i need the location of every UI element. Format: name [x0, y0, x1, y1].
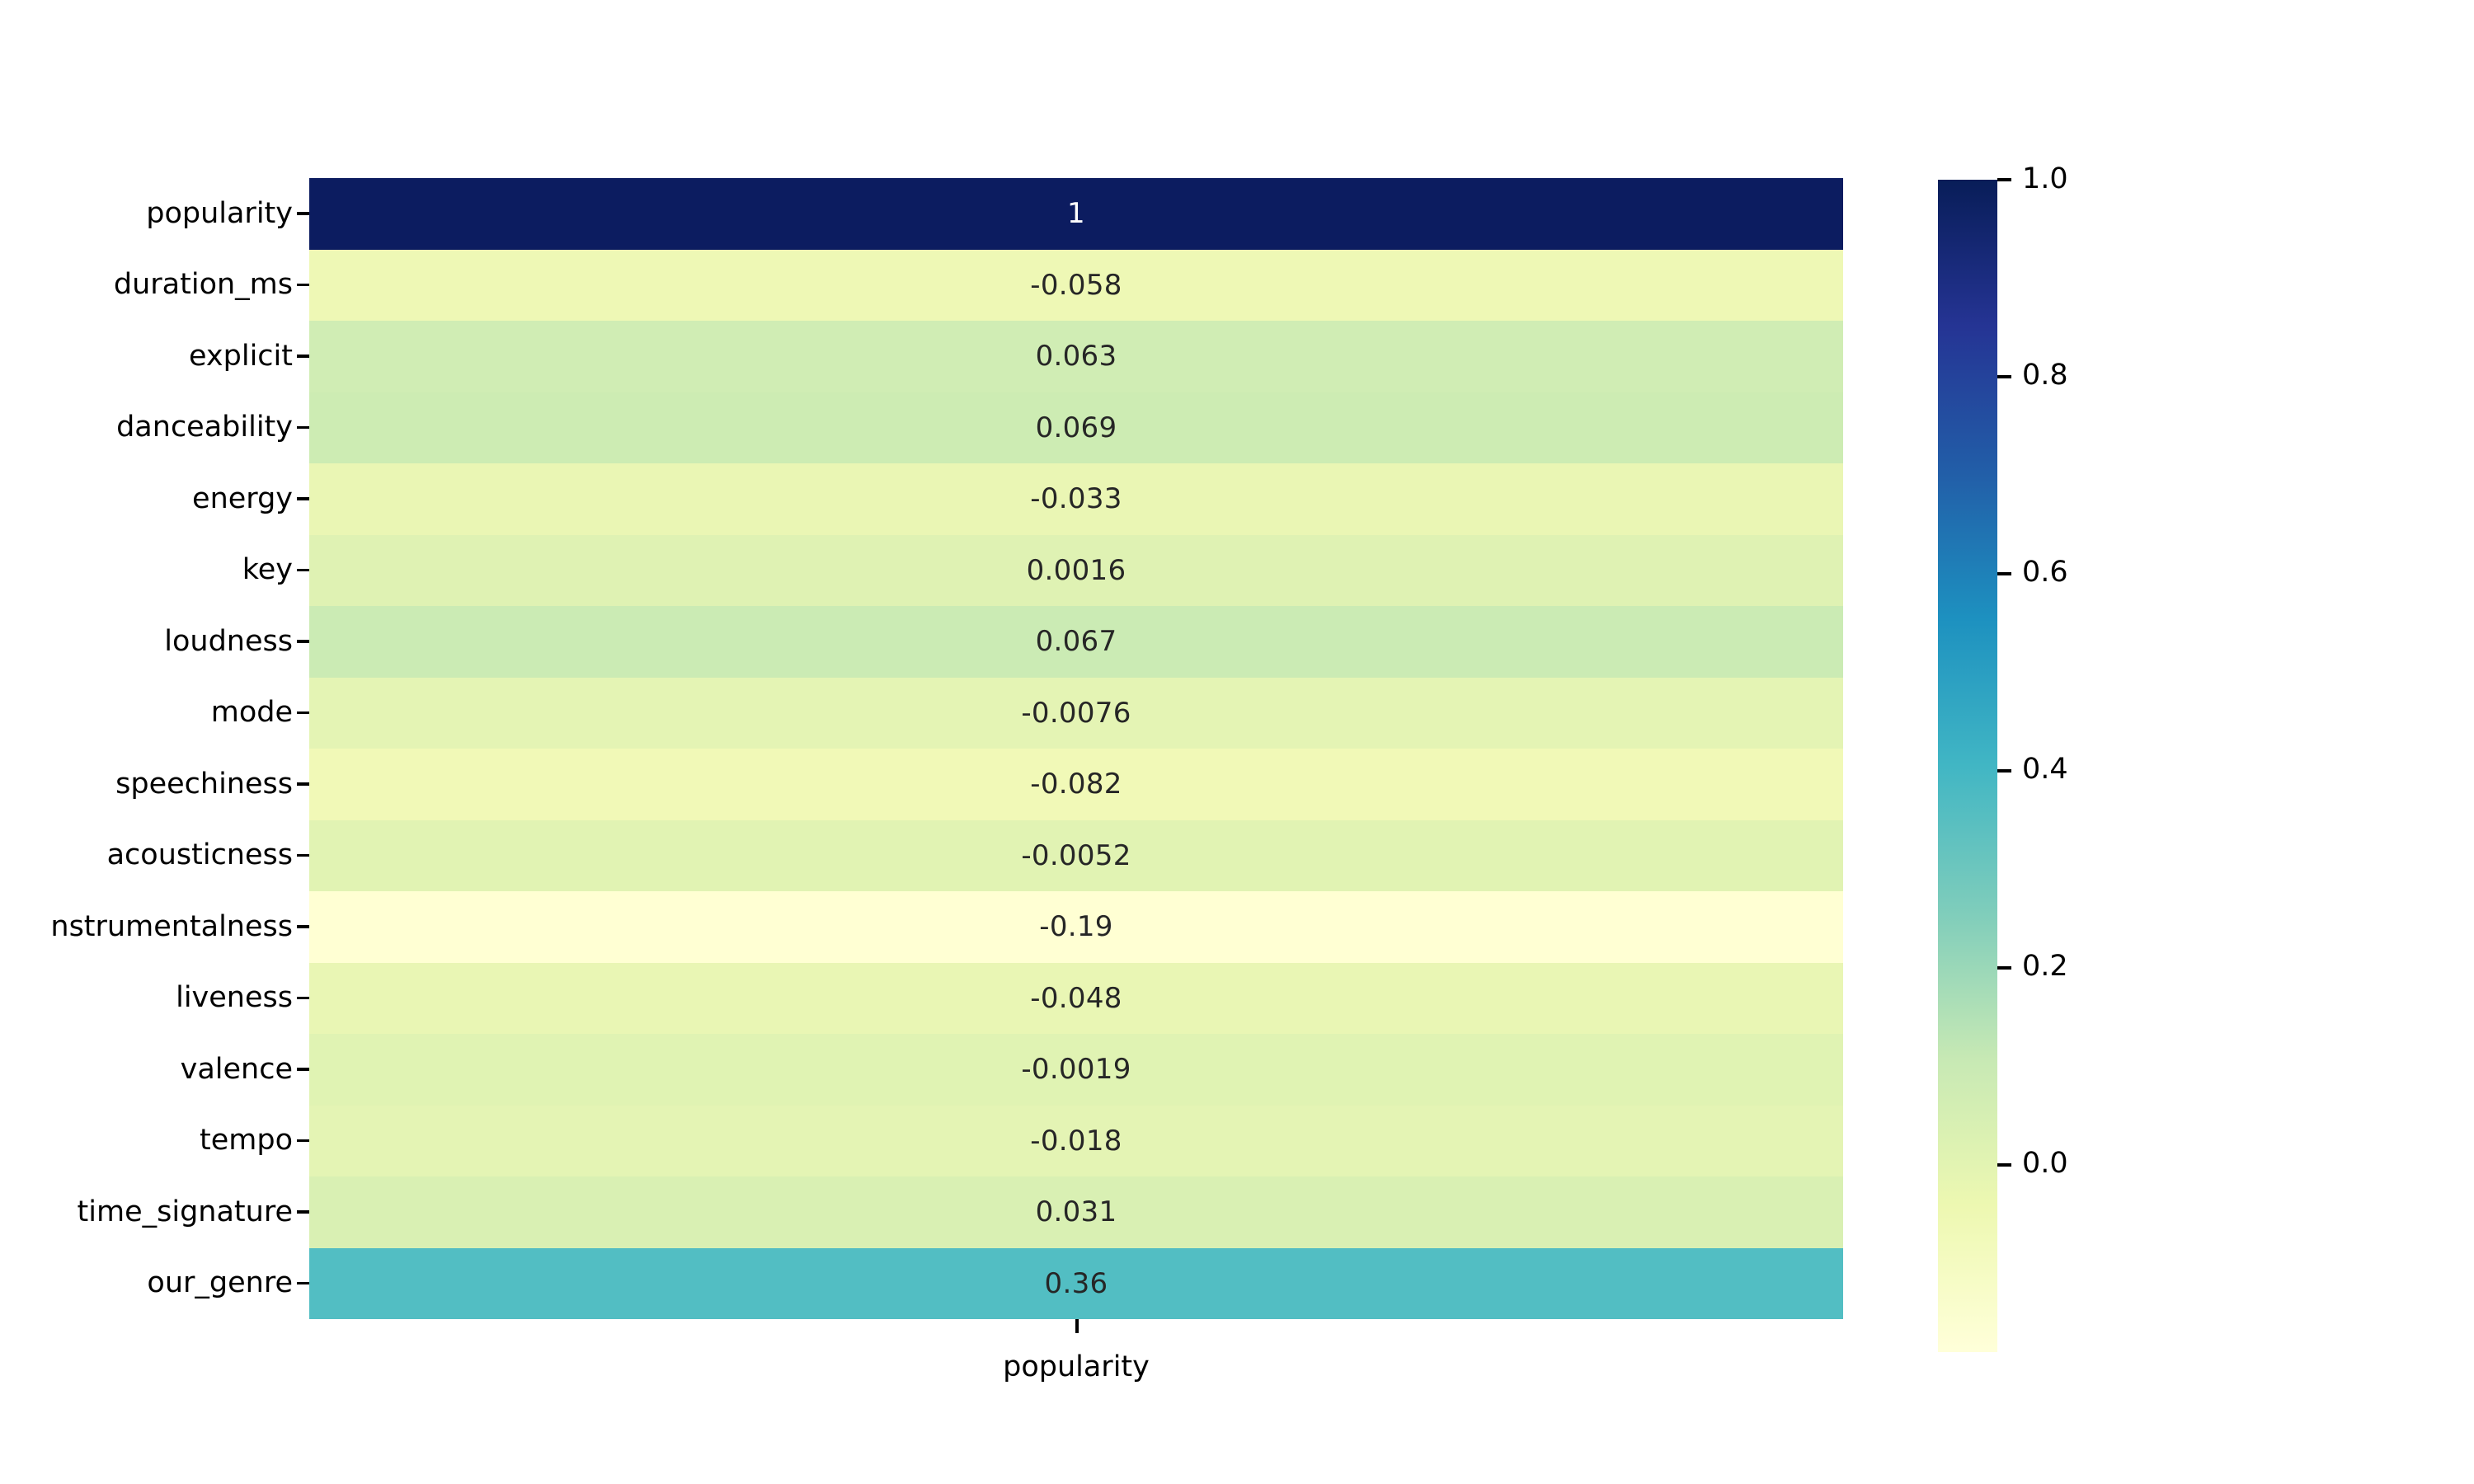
- y-axis-tick-label: duration_ms: [114, 270, 293, 299]
- colorbar-tick-label: 0.0: [2022, 1149, 2068, 1178]
- y-axis-tick: energy: [0, 463, 293, 535]
- y-axis-tick-label: tempo: [200, 1126, 293, 1155]
- heatmap-cell-value: -0.0076: [1021, 699, 1131, 727]
- y-axis-tick: explicit: [0, 321, 293, 392]
- heatmap-cell: 1: [309, 178, 1843, 250]
- heatmap-axes: 1-0.0580.0630.069-0.0330.00160.067-0.007…: [309, 178, 1843, 1319]
- heatmap-cell: -0.033: [309, 463, 1843, 535]
- heatmap-cell: 0.36: [309, 1248, 1843, 1320]
- y-axis-tick-label: liveness: [176, 984, 293, 1012]
- heatmap-cell-value: 0.36: [1045, 1270, 1108, 1298]
- y-axis-tick-label: popularity: [146, 200, 293, 228]
- y-axis-tick: speechiness: [0, 749, 293, 820]
- y-axis-tick-label: key: [242, 556, 293, 585]
- heatmap-cell-value: 0.0016: [1027, 556, 1126, 585]
- y-axis-tick: mode: [0, 678, 293, 749]
- heatmap-cell-value: -0.033: [1030, 485, 1122, 513]
- heatmap-cell: -0.058: [309, 250, 1843, 322]
- y-axis-tick: popularity: [0, 178, 293, 250]
- heatmap-cell: 0.031: [309, 1176, 1843, 1248]
- y-axis-tick: key: [0, 535, 293, 607]
- y-axis-tick: acousticness: [0, 820, 293, 892]
- y-axis-tick-label: mode: [211, 698, 293, 727]
- colorbar-tick-label: 0.4: [2022, 755, 2068, 784]
- colorbar-tick-mark: [1997, 966, 2011, 970]
- heatmap-cell: 0.067: [309, 606, 1843, 678]
- heatmap-cell: 0.069: [309, 392, 1843, 464]
- heatmap-cell: -0.0052: [309, 820, 1843, 892]
- colorbar-tick-label: 0.6: [2022, 558, 2068, 587]
- y-axis-tick-label: speechiness: [115, 770, 293, 799]
- colorbar-tick-mark: [1997, 769, 2011, 773]
- correlation-heatmap-figure: popularityduration_msexplicitdanceabilit…: [0, 0, 2474, 1484]
- y-axis-tick-label: loudness: [164, 627, 293, 656]
- y-axis-tick: tempo: [0, 1106, 293, 1177]
- heatmap-cell-value: -0.082: [1030, 770, 1122, 798]
- heatmap-cell-value: 1: [1067, 200, 1085, 228]
- colorbar-tick-label: 0.2: [2022, 952, 2068, 981]
- y-axis-tick: danceability: [0, 392, 293, 464]
- heatmap-cell: -0.018: [309, 1106, 1843, 1177]
- heatmap-cell-value: 0.069: [1036, 414, 1117, 442]
- colorbar-gradient: [1938, 180, 1997, 1352]
- colorbar-tick-mark: [1997, 572, 2011, 575]
- y-axis-tick: our_genre: [0, 1248, 293, 1320]
- y-axis-tick: time_signature: [0, 1176, 293, 1248]
- heatmap-cell: -0.082: [309, 749, 1843, 820]
- colorbar-tick-label: 0.8: [2022, 361, 2068, 390]
- x-axis-tick-label: popularity: [309, 1350, 1843, 1383]
- x-axis-tick-mark: [1075, 1319, 1079, 1333]
- heatmap-cell-value: -0.19: [1039, 913, 1112, 941]
- colorbar-tick-mark: [1997, 375, 2011, 378]
- y-axis-tick-labels: popularityduration_msexplicitdanceabilit…: [0, 178, 293, 1319]
- y-axis-tick-label: energy: [192, 485, 293, 514]
- y-axis-tick: loudness: [0, 606, 293, 678]
- y-axis-tick: duration_ms: [0, 250, 293, 322]
- heatmap-cell-value: -0.0019: [1021, 1055, 1131, 1083]
- heatmap-cell: -0.048: [309, 963, 1843, 1035]
- colorbar-tick-mark: [1997, 178, 2011, 181]
- y-axis-tick: liveness: [0, 963, 293, 1035]
- y-axis-tick-label: explicit: [189, 342, 293, 371]
- y-axis-tick: nstrumentalness: [0, 891, 293, 963]
- heatmap-cell-value: 0.063: [1036, 342, 1117, 370]
- heatmap-cell-value: -0.048: [1030, 984, 1122, 1012]
- y-axis-tick-label: danceability: [116, 413, 293, 442]
- colorbar: 1.00.80.60.40.20.0: [1938, 180, 1997, 1352]
- heatmap-cell: -0.0019: [309, 1034, 1843, 1106]
- heatmap-cell-value: 0.067: [1036, 627, 1117, 655]
- heatmap-cell-value: -0.018: [1030, 1127, 1122, 1155]
- heatmap-cell: -0.0076: [309, 678, 1843, 749]
- y-axis-tick-label: nstrumentalness: [50, 913, 293, 942]
- y-axis-tick-label: time_signature: [78, 1198, 293, 1227]
- y-axis-tick: valence: [0, 1034, 293, 1106]
- colorbar-tick-mark: [1997, 1163, 2011, 1167]
- heatmap-cell-value: -0.0052: [1021, 842, 1131, 870]
- y-axis-tick-label: acousticness: [107, 841, 293, 870]
- heatmap-cell-value: 0.031: [1036, 1198, 1117, 1226]
- heatmap-cell: 0.0016: [309, 535, 1843, 607]
- y-axis-tick-label: our_genre: [147, 1269, 293, 1298]
- heatmap-cell: 0.063: [309, 321, 1843, 392]
- colorbar-tick-label: 1.0: [2022, 165, 2068, 194]
- y-axis-tick-label: valence: [181, 1055, 293, 1084]
- heatmap-cell-value: -0.058: [1030, 271, 1122, 299]
- heatmap-cell: -0.19: [309, 891, 1843, 963]
